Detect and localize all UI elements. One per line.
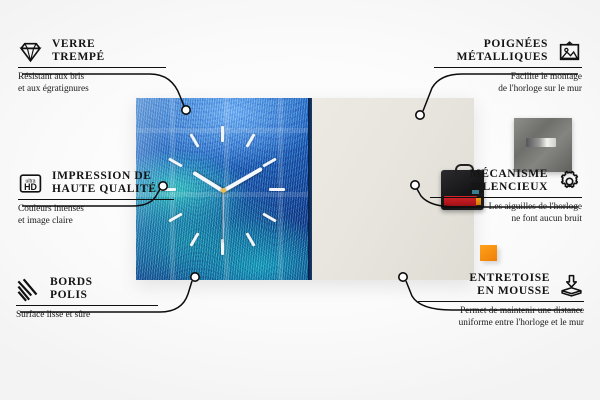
- hour-marker: [269, 188, 285, 191]
- feature-impression-hd: ultra HD IMPRESSION DEHAUTE QUALITÉ Coul…: [18, 170, 184, 227]
- infographic-canvas: VERRETREMPÉ Résistant aux briset aux égr…: [0, 0, 600, 400]
- feature-description: Couleurs intenseset image claire: [18, 204, 184, 227]
- diagonal-stripes-icon: [16, 277, 41, 302]
- feature-entretoise-en-mousse: ENTRETOISEEN MOUSSE Permet de maintenir …: [408, 272, 584, 329]
- hour-marker: [221, 126, 224, 142]
- feature-description: Résistant aux briset aux égratignures: [18, 72, 176, 95]
- clock-center-pin: [221, 188, 226, 193]
- feature-divider: [430, 197, 582, 198]
- foam-spacer: [480, 245, 497, 261]
- feature-divider: [418, 301, 584, 302]
- hanger-slot: [526, 138, 556, 147]
- feature-description: Les aiguilles de l'horlogene font aucun …: [420, 202, 582, 225]
- feature-poignees-metalliques: POIGNÉESMÉTALLIQUES Facilite le montaged…: [424, 38, 582, 95]
- panel-edge: [308, 98, 312, 280]
- press-down-pad-icon: [559, 273, 584, 298]
- diamond-icon: [18, 39, 43, 64]
- feature-title: MÉCANISMESILENCIEUX: [470, 168, 548, 194]
- feature-description: Permet de maintenir une distanceuniforme…: [408, 306, 584, 329]
- feature-header: ENTRETOISEEN MOUSSE: [408, 272, 584, 298]
- feature-header: MÉCANISMESILENCIEUX: [420, 168, 582, 194]
- feature-divider: [16, 305, 158, 306]
- gear-icon: [557, 169, 582, 194]
- feature-description: Surface lisse et sûre: [16, 310, 168, 322]
- feature-header: VERRETREMPÉ: [18, 38, 176, 64]
- feature-verre-trempe: VERRETREMPÉ Résistant aux briset aux égr…: [18, 38, 176, 95]
- framed-picture-icon: [557, 39, 582, 64]
- second-hand: [222, 191, 223, 243]
- feature-title: BORDSPOLIS: [50, 276, 93, 302]
- feature-mecanisme-silencieux: MÉCANISMESILENCIEUX Les aiguilles de l'h…: [420, 168, 582, 225]
- feature-description: Facilite le montagede l'horloge sur le m…: [424, 72, 582, 95]
- feature-header: BORDSPOLIS: [16, 276, 168, 302]
- feature-divider: [434, 67, 582, 68]
- svg-text:HD: HD: [24, 181, 37, 191]
- feature-header: ultra HD IMPRESSION DEHAUTE QUALITÉ: [18, 170, 184, 196]
- feature-divider: [18, 199, 174, 200]
- feature-title: IMPRESSION DEHAUTE QUALITÉ: [52, 170, 157, 196]
- metal-hanger-plate: [514, 118, 572, 172]
- feature-divider: [18, 67, 166, 68]
- ultra-hd-icon: ultra HD: [18, 171, 43, 196]
- feature-title: POIGNÉESMÉTALLIQUES: [457, 38, 548, 64]
- feature-bords-polis: BORDSPOLIS Surface lisse et sûre: [16, 276, 168, 322]
- feature-header: POIGNÉESMÉTALLIQUES: [424, 38, 582, 64]
- feature-title: ENTRETOISEEN MOUSSE: [469, 272, 550, 298]
- feature-title: VERRETREMPÉ: [52, 38, 105, 64]
